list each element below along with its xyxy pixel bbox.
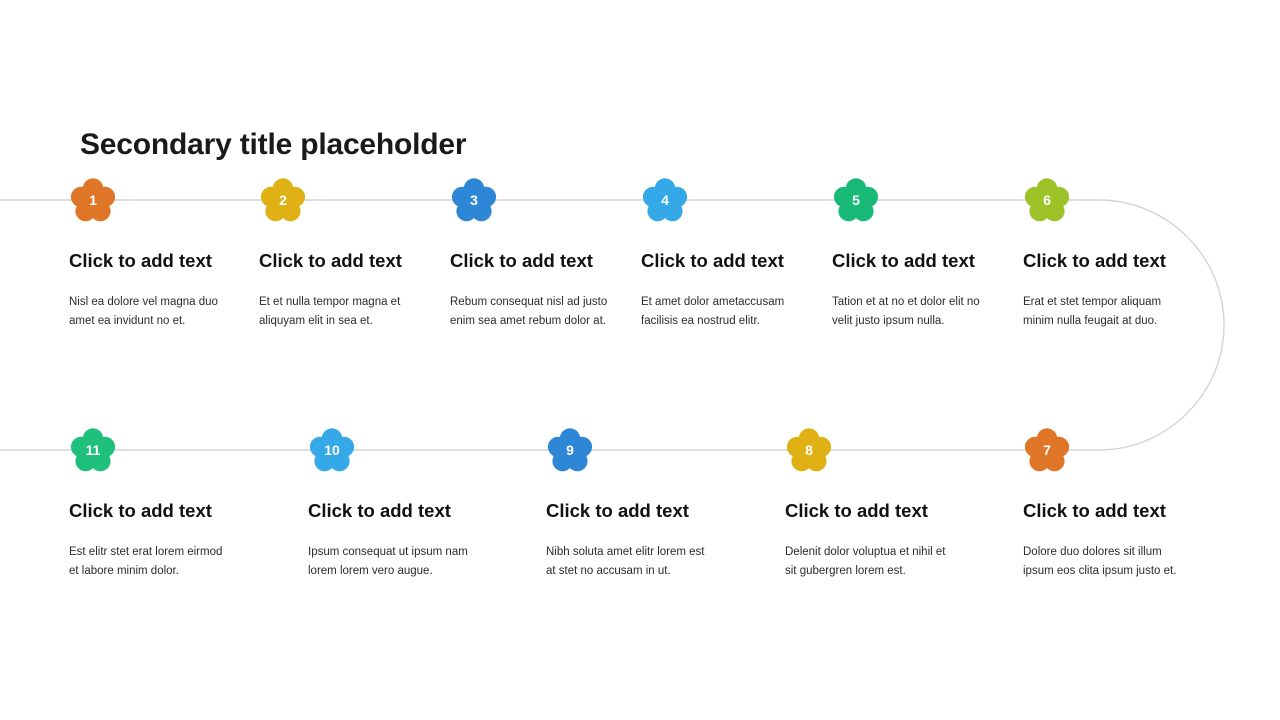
step-body[interactable]: Ipsum consequat ut ipsum nam lorem lorem… <box>308 543 473 582</box>
step-number: 5 <box>832 176 880 224</box>
step-heading[interactable]: Click to add text <box>69 250 259 272</box>
step-marker-4[interactable]: 4 <box>641 176 689 224</box>
step-marker-6[interactable]: 6 <box>1023 176 1071 224</box>
step-heading[interactable]: Click to add text <box>259 250 449 272</box>
timeline-step-10[interactable]: 10 Click to add text Ipsum consequat ut … <box>308 426 498 582</box>
timeline-step-8[interactable]: 8 Click to add text Delenit dolor volupt… <box>785 426 975 582</box>
timeline-step-6[interactable]: 6 Click to add text Erat et stet tempor … <box>1023 176 1213 332</box>
step-marker-7[interactable]: 7 <box>1023 426 1071 474</box>
step-body[interactable]: Rebum consequat nisl ad justo enim sea a… <box>450 293 615 332</box>
step-heading[interactable]: Click to add text <box>1023 500 1213 522</box>
step-number: 4 <box>641 176 689 224</box>
step-number: 6 <box>1023 176 1071 224</box>
timeline-step-3[interactable]: 3 Click to add text Rebum consequat nisl… <box>450 176 640 332</box>
step-number: 10 <box>308 426 356 474</box>
timeline-step-9[interactable]: 9 Click to add text Nibh soluta amet eli… <box>546 426 736 582</box>
step-number: 7 <box>1023 426 1071 474</box>
step-marker-8[interactable]: 8 <box>785 426 833 474</box>
step-heading[interactable]: Click to add text <box>1023 250 1213 272</box>
step-marker-9[interactable]: 9 <box>546 426 594 474</box>
timeline-step-11[interactable]: 11 Click to add text Est elitr stet erat… <box>69 426 259 582</box>
step-marker-5[interactable]: 5 <box>832 176 880 224</box>
step-number: 1 <box>69 176 117 224</box>
step-number: 11 <box>69 426 117 474</box>
timeline-row-top: 1 Click to add text Nisl ea dolore vel m… <box>0 176 1280 376</box>
step-body[interactable]: Erat et stet tempor aliquam minim nulla … <box>1023 293 1188 332</box>
step-marker-10[interactable]: 10 <box>308 426 356 474</box>
step-body[interactable]: Delenit dolor voluptua et nihil et sit g… <box>785 543 950 582</box>
step-heading[interactable]: Click to add text <box>832 250 1022 272</box>
step-body[interactable]: Tation et at no et dolor elit no velit j… <box>832 293 997 332</box>
timeline-step-4[interactable]: 4 Click to add text Et amet dolor ametac… <box>641 176 831 332</box>
step-heading[interactable]: Click to add text <box>69 500 259 522</box>
step-marker-11[interactable]: 11 <box>69 426 117 474</box>
page-title: Secondary title placeholder <box>80 128 466 162</box>
timeline-row-bottom: 11 Click to add text Est elitr stet erat… <box>0 426 1280 626</box>
step-body[interactable]: Et et nulla tempor magna et aliquyam eli… <box>259 293 424 332</box>
slide-canvas: Secondary title placeholder 1 <box>0 0 1280 720</box>
step-body[interactable]: Nibh soluta amet elitr lorem est at stet… <box>546 543 711 582</box>
step-heading[interactable]: Click to add text <box>785 500 975 522</box>
step-number: 2 <box>259 176 307 224</box>
step-number: 9 <box>546 426 594 474</box>
step-number: 8 <box>785 426 833 474</box>
step-number: 3 <box>450 176 498 224</box>
timeline-step-2[interactable]: 2 Click to add text Et et nulla tempor m… <box>259 176 449 332</box>
timeline-step-5[interactable]: 5 Click to add text Tation et at no et d… <box>832 176 1022 332</box>
step-marker-1[interactable]: 1 <box>69 176 117 224</box>
step-body[interactable]: Nisl ea dolore vel magna duo amet ea inv… <box>69 293 234 332</box>
step-heading[interactable]: Click to add text <box>308 500 498 522</box>
step-heading[interactable]: Click to add text <box>450 250 640 272</box>
step-heading[interactable]: Click to add text <box>641 250 831 272</box>
step-body[interactable]: Est elitr stet erat lorem eirmod et labo… <box>69 543 234 582</box>
step-body[interactable]: Dolore duo dolores sit illum ipsum eos c… <box>1023 543 1188 582</box>
step-body[interactable]: Et amet dolor ametaccusam facilisis ea n… <box>641 293 806 332</box>
step-heading[interactable]: Click to add text <box>546 500 736 522</box>
timeline-step-7[interactable]: 7 Click to add text Dolore duo dolores s… <box>1023 426 1213 582</box>
timeline-step-1[interactable]: 1 Click to add text Nisl ea dolore vel m… <box>69 176 259 332</box>
step-marker-2[interactable]: 2 <box>259 176 307 224</box>
step-marker-3[interactable]: 3 <box>450 176 498 224</box>
